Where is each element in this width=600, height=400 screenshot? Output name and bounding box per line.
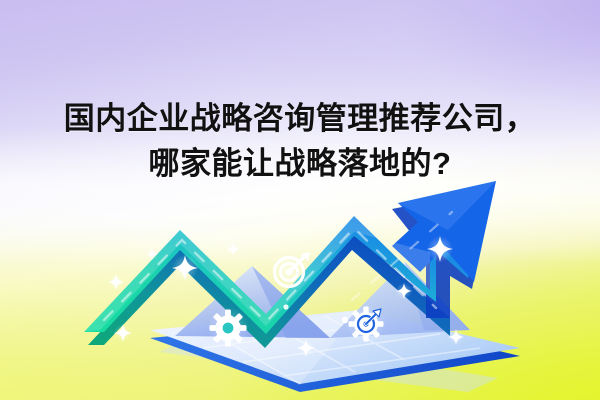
sparkle bbox=[227, 243, 240, 256]
gear-icon bbox=[207, 307, 249, 349]
sparkle-dot bbox=[342, 317, 348, 323]
gear-target-icon bbox=[346, 304, 386, 344]
sparkle-dot bbox=[283, 304, 288, 309]
growth-arrow-illustration bbox=[0, 0, 600, 400]
gear-hole bbox=[223, 323, 234, 334]
page-title: 国内企业战略咨询管理推荐公司， 哪家能让战略落地的? bbox=[0, 96, 600, 186]
sparkle bbox=[427, 236, 453, 262]
sparkle bbox=[448, 329, 464, 345]
headline-line-2: 哪家能让战略落地的? bbox=[0, 141, 600, 186]
banner-canvas: 国内企业战略咨询管理推荐公司， 哪家能让战略落地的? bbox=[0, 0, 600, 400]
sparkle bbox=[108, 274, 124, 290]
sparkle bbox=[396, 283, 412, 299]
headline-line-1: 国内企业战略咨询管理推荐公司， bbox=[64, 101, 537, 136]
sparkle bbox=[114, 324, 132, 342]
sparkle bbox=[146, 248, 158, 260]
sparkle bbox=[297, 339, 315, 357]
sparkle bbox=[172, 255, 198, 281]
